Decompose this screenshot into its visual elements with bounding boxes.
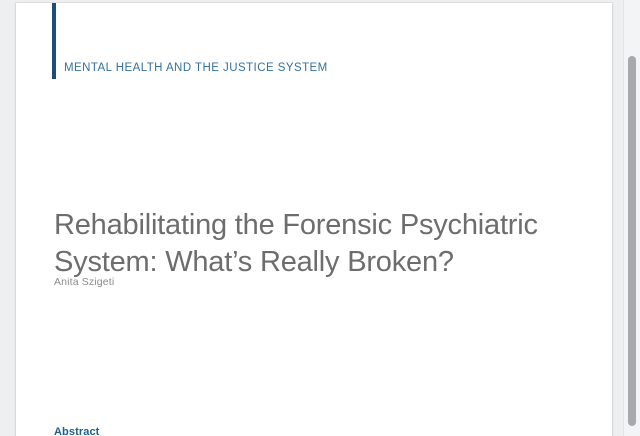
- vertical-scroll-thumb[interactable]: [628, 56, 636, 426]
- running-head-text: MENTAL HEALTH AND THE JUSTICE SYSTEM: [64, 61, 328, 75]
- author-name: Anita Szigeti: [54, 275, 114, 289]
- page-title-line-2: System: What’s Really Broken?: [54, 244, 554, 281]
- page-title-line-1: Rehabilitating the Forensic Psychiatric: [54, 207, 554, 244]
- document-viewer[interactable]: MENTAL HEALTH AND THE JUSTICE SYSTEM Reh…: [0, 0, 640, 436]
- abstract-heading: Abstract: [54, 425, 99, 436]
- vertical-scrollbar[interactable]: [623, 0, 640, 436]
- page-title: Rehabilitating the Forensic Psychiatric …: [54, 207, 554, 281]
- document-page: MENTAL HEALTH AND THE JUSTICE SYSTEM Reh…: [16, 3, 612, 436]
- accent-rule: [52, 3, 56, 79]
